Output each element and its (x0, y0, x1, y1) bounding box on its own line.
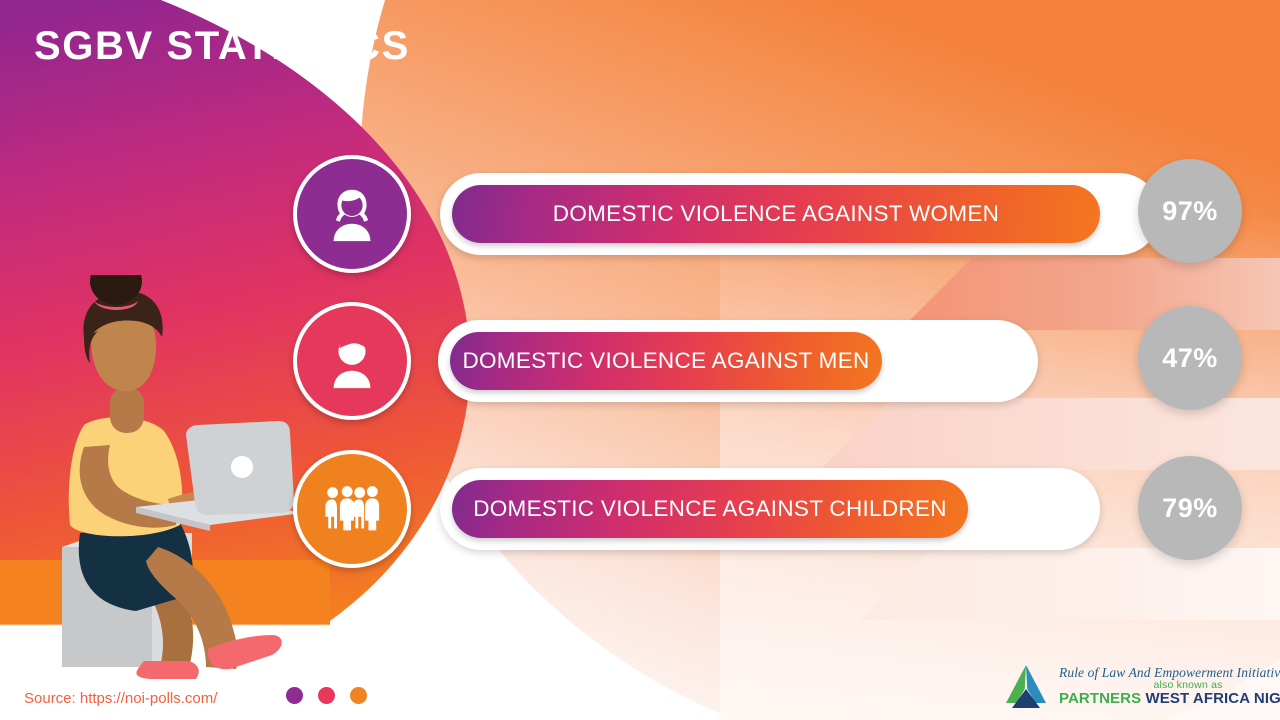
man-icon (321, 330, 383, 392)
stat-row-women: DOMESTIC VIOLENCE AGAINST WOMEN 97% (0, 155, 1280, 275)
source-citation[interactable]: Source: https://noi-polls.com/ (24, 690, 217, 707)
stat-bar-fill-men[interactable]: DOMESTIC VIOLENCE AGAINST MEN (450, 332, 882, 390)
stat-percent-badge-children: 79% (1138, 456, 1242, 560)
stat-percent-badge-men: 47% (1138, 306, 1242, 410)
stat-bar-shell-children: DOMESTIC VIOLENCE AGAINST CHILDREN (440, 468, 1100, 550)
logo-rest-words: WEST AFRICA NIGERIA (1141, 690, 1280, 707)
stat-percent-women: 97% (1162, 196, 1218, 227)
stat-percent-children: 79% (1162, 493, 1218, 524)
family-group-icon (321, 478, 383, 540)
stat-icon-circle-men[interactable] (293, 302, 411, 420)
stat-percent-men: 47% (1162, 343, 1218, 374)
stat-label-men: DOMESTIC VIOLENCE AGAINST MEN (462, 348, 869, 374)
triangle-mountain-logo-icon (1000, 663, 1052, 709)
stat-row-children: DOMESTIC VIOLENCE AGAINST CHILDREN 79% (0, 450, 1280, 570)
stat-percent-badge-women: 97% (1138, 159, 1242, 263)
stat-label-women: DOMESTIC VIOLENCE AGAINST WOMEN (553, 201, 999, 227)
dot-pink (318, 687, 335, 704)
stat-row-men: DOMESTIC VIOLENCE AGAINST MEN 47% (0, 302, 1280, 422)
stat-bar-shell-women: DOMESTIC VIOLENCE AGAINST WOMEN (440, 173, 1160, 255)
stat-bar-fill-women[interactable]: DOMESTIC VIOLENCE AGAINST WOMEN (452, 185, 1100, 243)
stat-bar-fill-children[interactable]: DOMESTIC VIOLENCE AGAINST CHILDREN (452, 480, 968, 538)
dot-purple (286, 687, 303, 704)
stat-icon-circle-children[interactable] (293, 450, 411, 568)
stat-bar-shell-men: DOMESTIC VIOLENCE AGAINST MEN (438, 320, 1038, 402)
stat-icon-circle-women[interactable] (293, 155, 411, 273)
page-title: SGBV STATISTICS (34, 24, 410, 69)
woman-icon (321, 183, 383, 245)
decorative-dots (286, 687, 367, 704)
slide-root: SGBV STATISTICS (0, 0, 1280, 720)
logo-partners-word: PARTNERS (1059, 690, 1141, 707)
organization-logo: Rule of Law And Empowerment Initiative a… (1000, 660, 1272, 712)
logo-line-1: Rule of Law And Empowerment Initiative (1059, 666, 1280, 680)
dot-orange (350, 687, 367, 704)
stat-label-children: DOMESTIC VIOLENCE AGAINST CHILDREN (473, 496, 947, 522)
